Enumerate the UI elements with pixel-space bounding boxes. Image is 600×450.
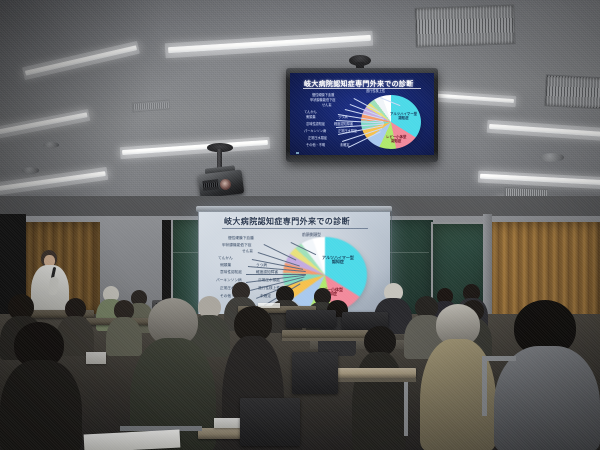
- power-led-icon: [296, 152, 299, 154]
- chair-frame: [482, 356, 487, 416]
- monitor-callout-label: 意味性認知症: [306, 123, 325, 126]
- monitor-callout-label: 進行性核上性: [366, 90, 385, 93]
- monitor-callout-label: うつ病: [338, 116, 348, 119]
- monitor-callout-label: その他・不明: [306, 144, 325, 147]
- lecture-hall-photo: 岐大病院認知症専門外来での診断 アルツハイマー型認知症 レビー小体型認知症 慢性…: [0, 0, 600, 450]
- audience-member: [0, 322, 82, 450]
- chair-back: [292, 352, 338, 394]
- monitor-callout-label: 慢性硬膜下血腫: [312, 94, 334, 97]
- monitor-callout-label: 正常圧水頭症: [308, 137, 327, 140]
- monitor-title-underline: [303, 88, 421, 89]
- torso: [0, 360, 82, 450]
- wall-mounted-display: 岐大病院認知症専門外来での診断 アルツハイマー型認知症 レビー小体型認知症 慢性…: [286, 68, 438, 162]
- chair-frame: [484, 356, 516, 361]
- audience-member: [352, 326, 406, 450]
- ceiling-air-vent: [414, 4, 515, 47]
- chair-back: [286, 310, 336, 328]
- chair-back: [240, 398, 300, 446]
- monitor-callout-label: せん妄: [322, 104, 332, 107]
- chair-frame: [404, 382, 408, 436]
- monitor-callout-label: 側頭葉: [306, 116, 316, 119]
- monitor-slice-label: レビー小体型認知症: [386, 136, 406, 143]
- torso: [494, 346, 600, 450]
- monitor-callout-label: パーキンソン病: [304, 130, 326, 133]
- torso: [352, 352, 406, 450]
- monitor-callout-label: 甲状腺機能低下症: [310, 99, 336, 102]
- audience-member: [494, 300, 600, 450]
- display-screen: 岐大病院認知症専門外来での診断 アルツハイマー型認知症 レビー小体型認知症 慢性…: [290, 73, 434, 155]
- monitor-callout-label: てんかん: [304, 111, 317, 114]
- desk: [330, 368, 416, 378]
- ceiling-speaker: [540, 153, 564, 162]
- handout-paper: [86, 352, 106, 364]
- ceiling-air-vent: [544, 74, 600, 109]
- projector-vent-icon: [202, 179, 219, 191]
- monitor-slice-label: アルツハイマー型認知症: [390, 113, 417, 120]
